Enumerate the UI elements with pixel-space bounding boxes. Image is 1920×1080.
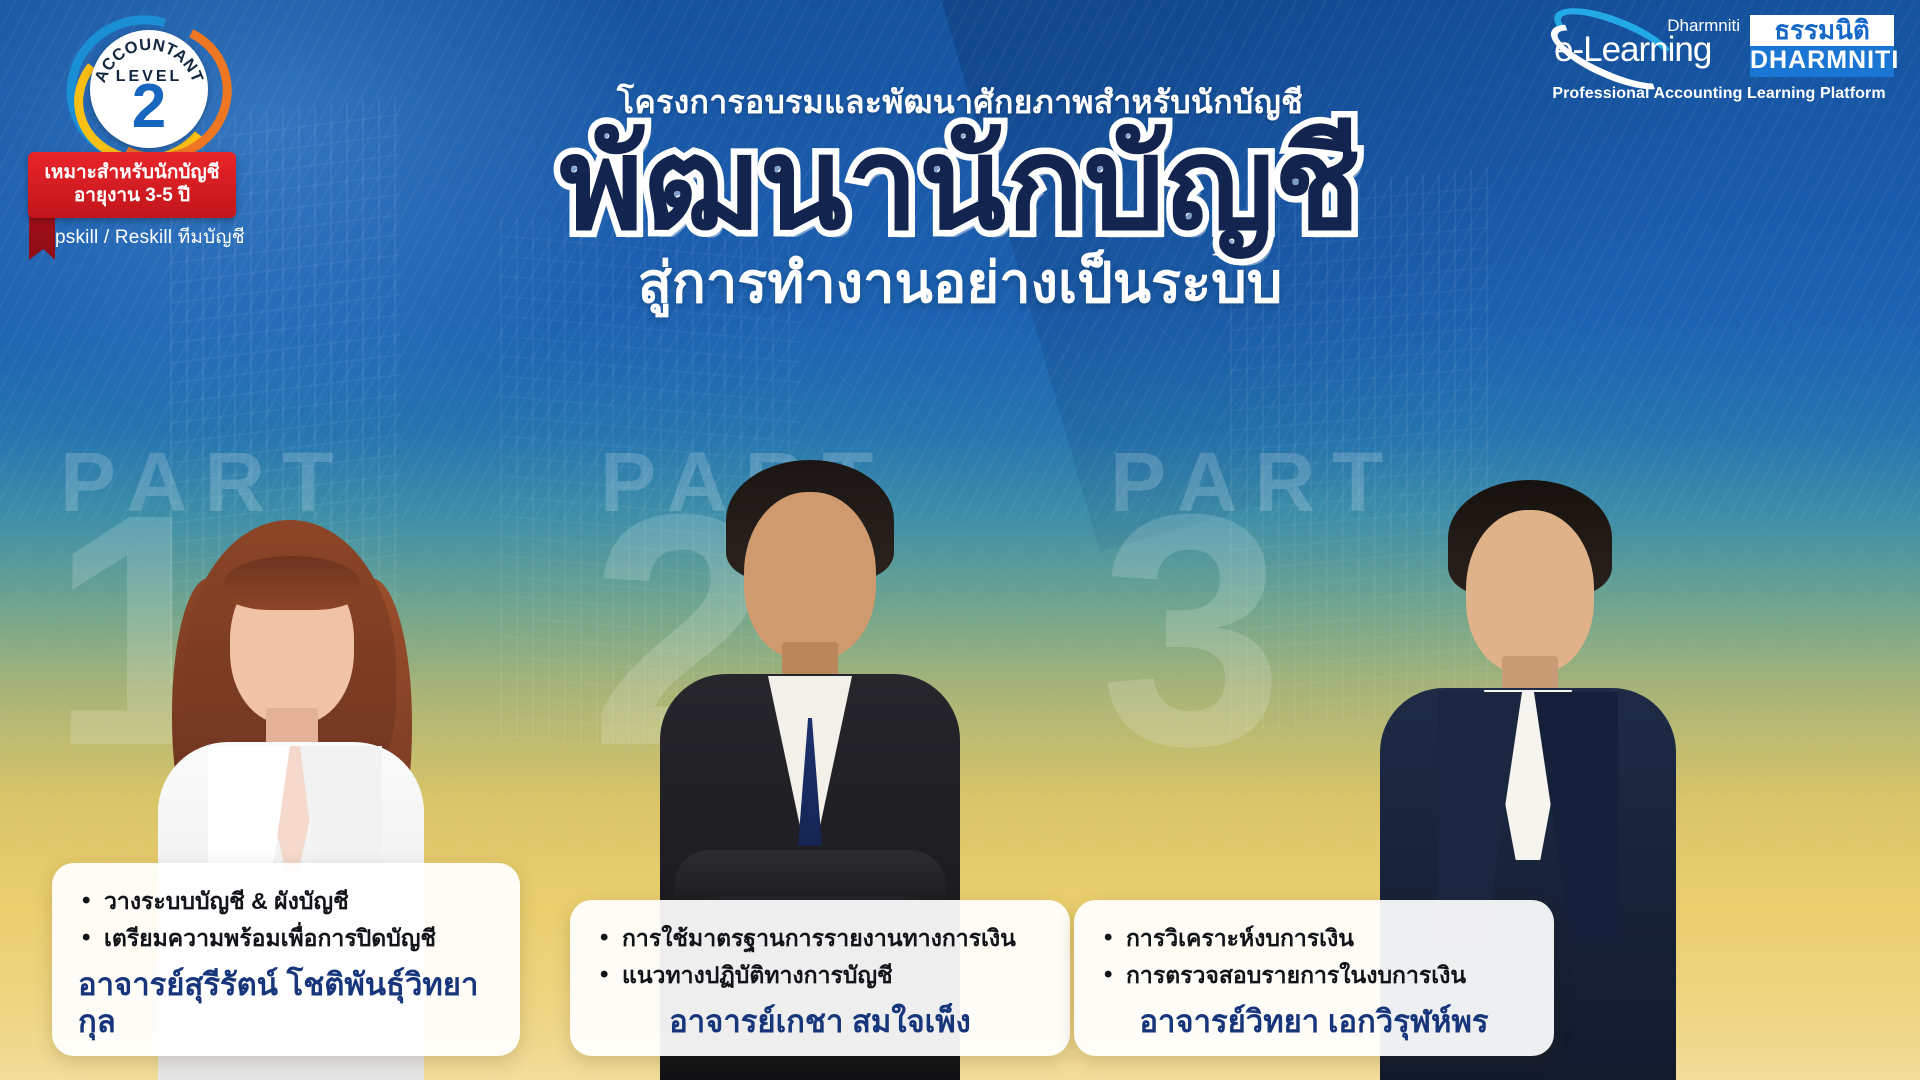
elearning-wordmark: e-Learning xyxy=(1554,30,1711,70)
list-item: การวิเคราะห์งบการเงิน xyxy=(1100,922,1528,955)
logo-row: Dharmniti e-Learning ธรรมนิติ DHARMNITI xyxy=(1544,14,1894,78)
promo-banner: PART 1 PART 2 PART 3 xyxy=(0,0,1920,1080)
headline-block: โครงการอบรมและพัฒนาศักยภาพสำหรับนักบัญชี… xyxy=(0,84,1920,314)
list-item: การใช้มาตรฐานการรายงานทางการเงิน xyxy=(596,922,1044,955)
dharmniti-english-wordmark: DHARMNITI xyxy=(1750,46,1894,78)
dharmniti-logo: ธรรมนิติ DHARMNITI xyxy=(1750,15,1894,78)
list-item: เตรียมความพร้อมเพื่อการปิดบัญชี xyxy=(78,922,494,955)
topic-list: การใช้มาตรฐานการรายงานทางการเงิน แนวทางป… xyxy=(596,922,1044,993)
topic-list: การวิเคราะห์งบการเงิน การตรวจสอบรายการใน… xyxy=(1100,922,1528,993)
target-audience-ribbon: เหมาะสำหรับนักบัญชี อายุงาน 3-5 ปี xyxy=(28,152,236,218)
speaker-card-1: วางระบบบัญชี & ผังบัญชี เตรียมความพร้อมเ… xyxy=(52,863,520,1056)
ribbon-line-1: เหมาะสำหรับนักบัญชี xyxy=(34,161,230,184)
bangs xyxy=(224,556,360,610)
topic-list: วางระบบบัญชี & ผังบัญชี เตรียมความพร้อมเ… xyxy=(78,885,494,956)
speaker-card-2: การใช้มาตรฐานการรายงานทางการเงิน แนวทางป… xyxy=(570,900,1070,1056)
list-item: วางระบบบัญชี & ผังบัญชี xyxy=(78,885,494,918)
dharmniti-thai-wordmark: ธรรมนิติ xyxy=(1750,15,1894,46)
list-item: การตรวจสอบรายการในงบการเงิน xyxy=(1100,959,1528,992)
speaker-card-3: การวิเคราะห์งบการเงิน การตรวจสอบรายการใน… xyxy=(1074,900,1554,1056)
ribbon-body: เหมาะสำหรับนักบัญชี อายุงาน 3-5 ปี xyxy=(28,152,236,218)
face xyxy=(744,492,876,660)
elearning-logo: Dharmniti e-Learning xyxy=(1546,14,1742,78)
page-subtitle: สู่การทำงานอย่างเป็นระบบ xyxy=(0,252,1920,314)
speaker-name: อาจารย์วิทยา เอกวิรุฬห์พร xyxy=(1100,1003,1528,1040)
page-title: พัฒนานักบัญชี xyxy=(0,120,1920,251)
face xyxy=(1466,510,1594,674)
list-item: แนวทางปฏิบัติทางการบัญชี xyxy=(596,959,1044,992)
speaker-name: อาจารย์เกชา สมใจเพ็ง xyxy=(596,1003,1044,1040)
speaker-name: อาจารย์สุรีรัตน์ โชติพันธุ์วิทยากุล xyxy=(78,966,494,1040)
ribbon-line-2: อายุงาน 3-5 ปี xyxy=(34,184,230,207)
